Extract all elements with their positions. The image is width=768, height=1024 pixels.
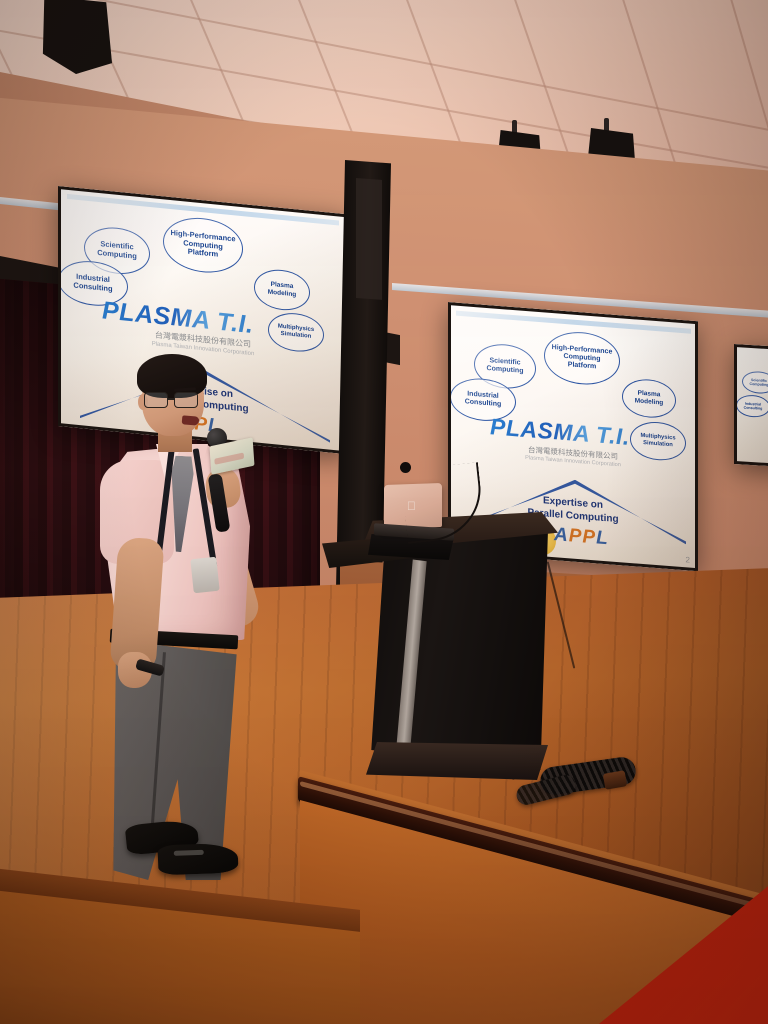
presenter-shoe-front (158, 843, 239, 876)
shoe-highlight (174, 850, 204, 856)
presenter (96, 352, 286, 872)
podium-base (366, 742, 548, 780)
eyeglasses-icon (144, 392, 202, 409)
eyeglass-lens-right (174, 392, 198, 408)
presenter-mouth (182, 415, 200, 425)
name-badge (190, 557, 219, 594)
eyeglass-lens-left (144, 392, 168, 408)
gooseneck-microphone-capsule-icon (400, 462, 411, 473)
screen-frame (734, 344, 768, 471)
wall-pillar-panel (356, 178, 382, 300)
projection-screen-right: ScientificComputing IndustrialConsulting… (734, 344, 768, 471)
auditorium-photo: ScientificComputing High-PerformanceComp… (0, 0, 768, 1024)
